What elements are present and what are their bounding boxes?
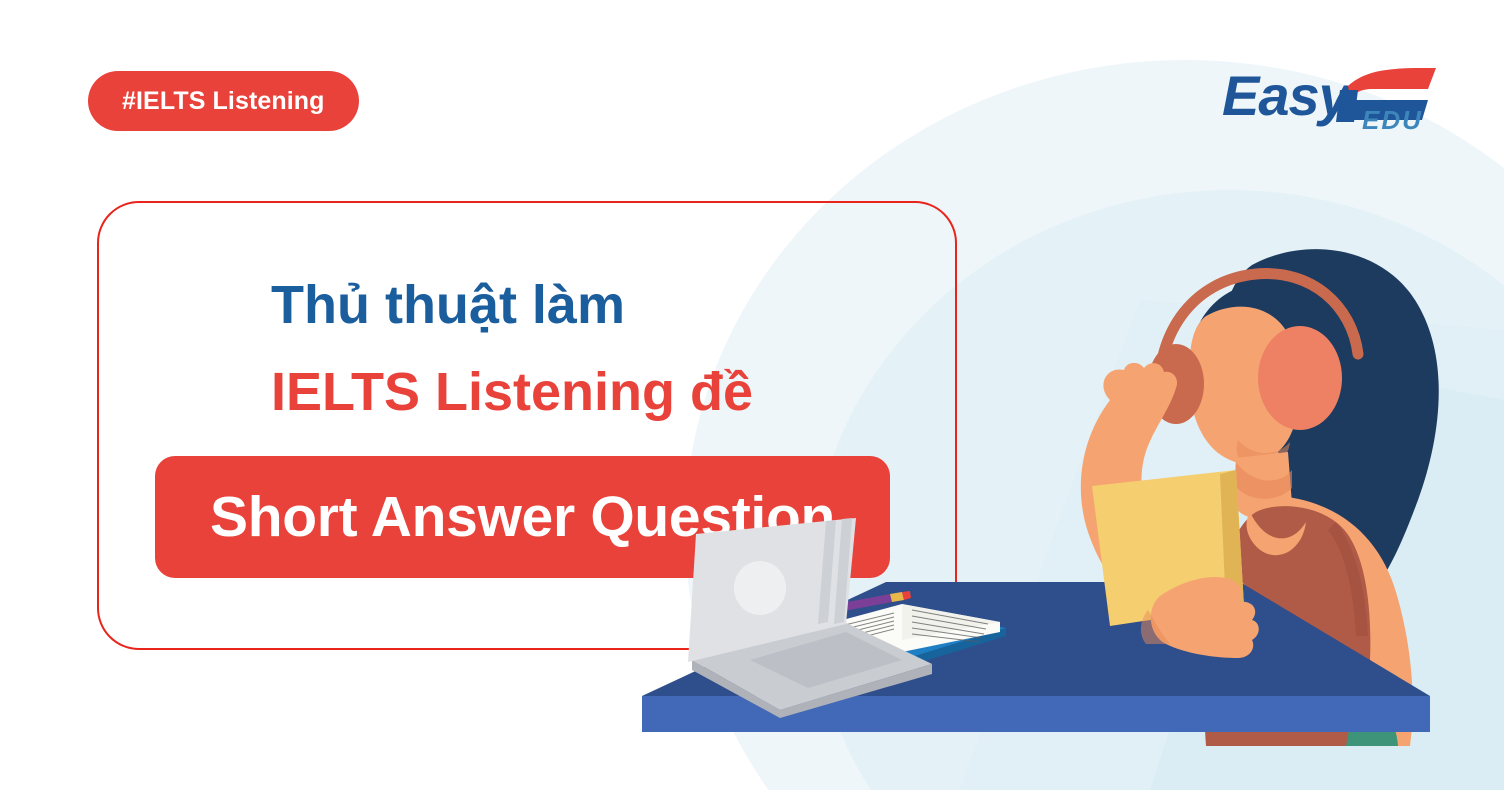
hashtag-badge-label: #IELTS Listening xyxy=(122,89,325,114)
hashtag-badge[interactable]: #IELTS Listening xyxy=(88,71,359,131)
poster-canvas: #IELTS Listening Easy EDU Thủ thuật làm … xyxy=(0,0,1504,790)
headline-line-1: Thủ thuật làm xyxy=(271,277,625,334)
brand-logo[interactable]: Easy EDU xyxy=(1222,62,1437,140)
study-illustration xyxy=(640,140,1504,790)
brand-logo-sub: EDU xyxy=(1362,107,1423,133)
